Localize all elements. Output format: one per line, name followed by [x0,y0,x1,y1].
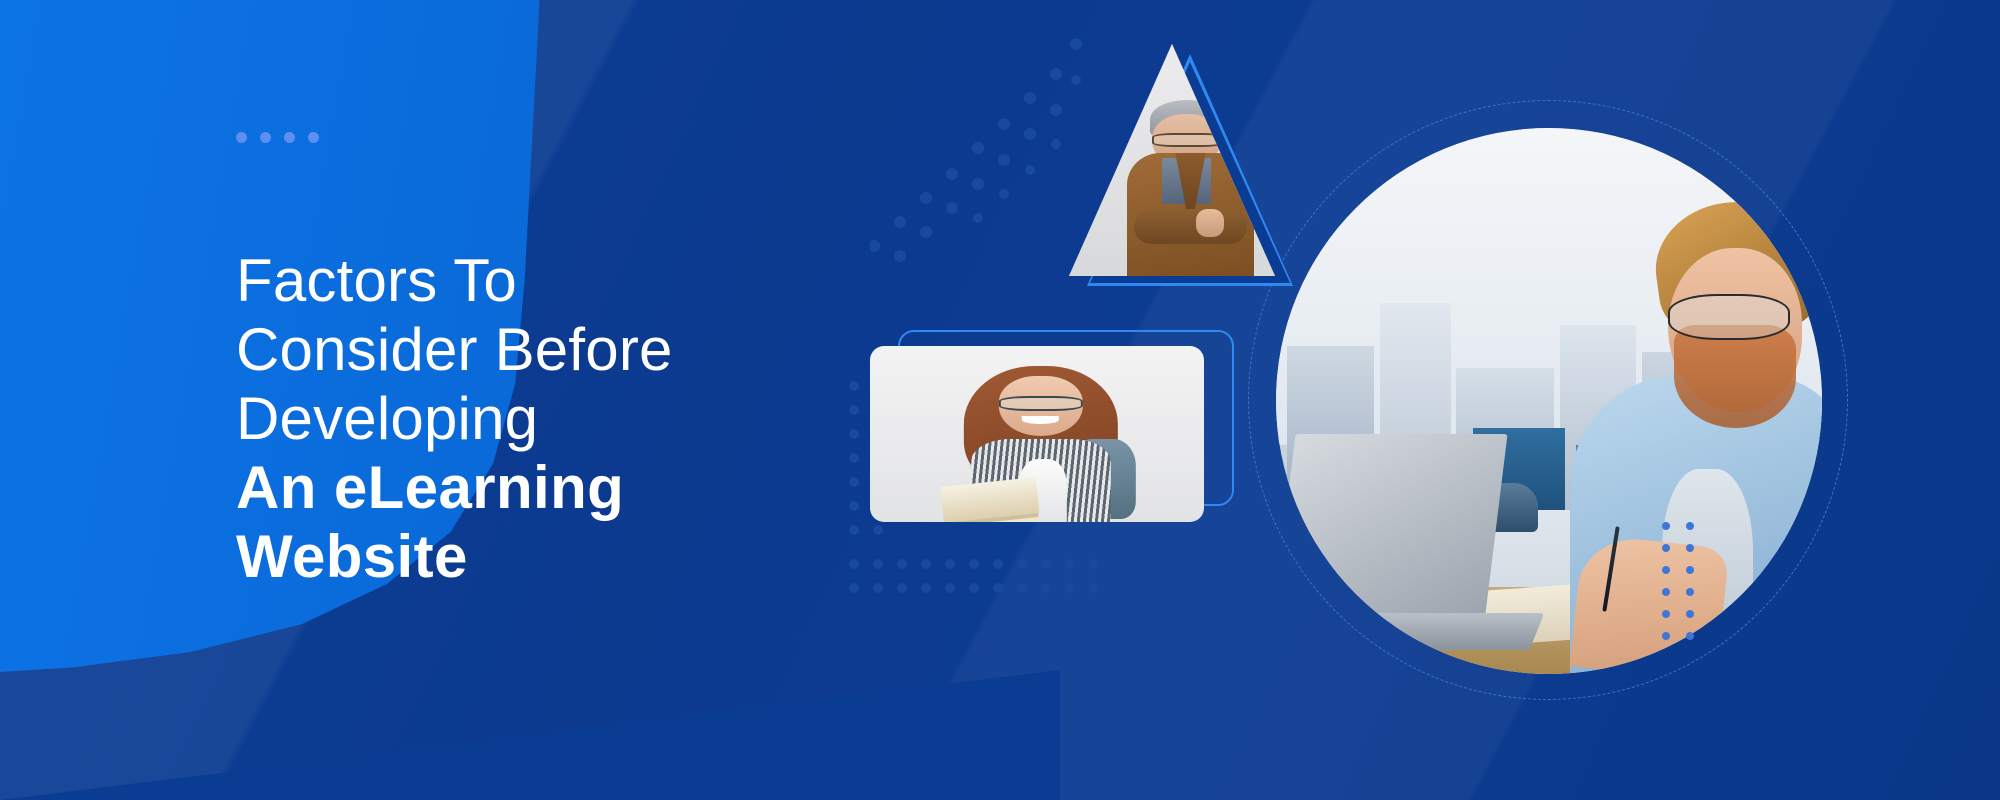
right-dot-grid [1660,520,1780,640]
subject-hand [1196,209,1224,237]
laptop-keyboard-base [1276,613,1545,650]
triangle-photo [1069,44,1275,276]
subject-glasses [998,396,1082,411]
subject-crossed-arms [1134,209,1246,244]
graphic-composition [1060,0,2000,800]
subject-smile [1022,416,1059,424]
subject-glasses [1668,294,1790,340]
eyebrow-dot [236,132,247,143]
page-title: Factors To Consider Before Developing An… [236,177,896,660]
eyebrow-dot [308,132,319,143]
laptop-screen [1276,434,1507,622]
triangle-photo-subject [1127,100,1255,276]
laptop [1276,434,1549,663]
headline-block: Factors To Consider Before Developing An… [236,132,896,660]
card-photo [870,346,1204,522]
eyebrow-dot [260,132,271,143]
headline-regular-text: Factors To Consider Before Developing [236,247,673,452]
card-photo-group [870,330,1290,580]
eyebrow-dot-row [236,132,896,143]
card-photo-subject [949,357,1133,522]
headline-bold-text: An eLearning Website [236,453,896,591]
subject-beard [1674,325,1796,428]
promo-banner: Factors To Consider Before Developing An… [0,0,2000,800]
eyebrow-dot [284,132,295,143]
